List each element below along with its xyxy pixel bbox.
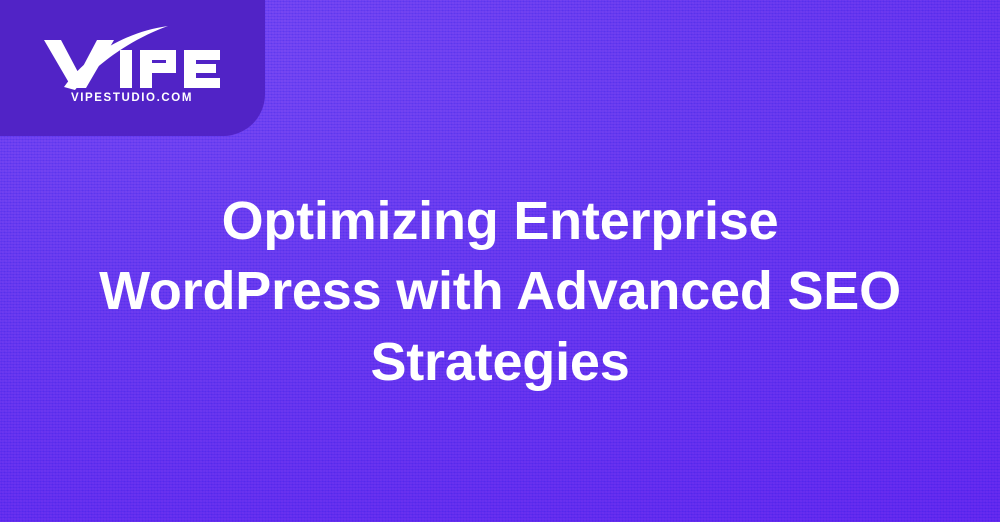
page-title: Optimizing Enterprise WordPress with Adv… — [0, 186, 1000, 397]
vipe-logo[interactable]: VIPESTUDIO.COM — [42, 24, 222, 104]
page-title-line-1: Optimizing Enterprise — [18, 186, 982, 256]
page-title-line-3: Strategies — [18, 327, 982, 397]
logo-letter-p — [140, 50, 176, 88]
blog-cover-banner: VIPESTUDIO.COM Optimizing Enterprise Wor… — [0, 0, 1000, 522]
logo-letter-e — [184, 50, 220, 88]
logo-letter-i — [120, 50, 132, 88]
page-title-line-2: WordPress with Advanced SEO — [18, 256, 982, 326]
logo-tagline: VIPESTUDIO.COM — [71, 92, 193, 104]
logo-plate[interactable]: VIPESTUDIO.COM — [0, 0, 265, 136]
